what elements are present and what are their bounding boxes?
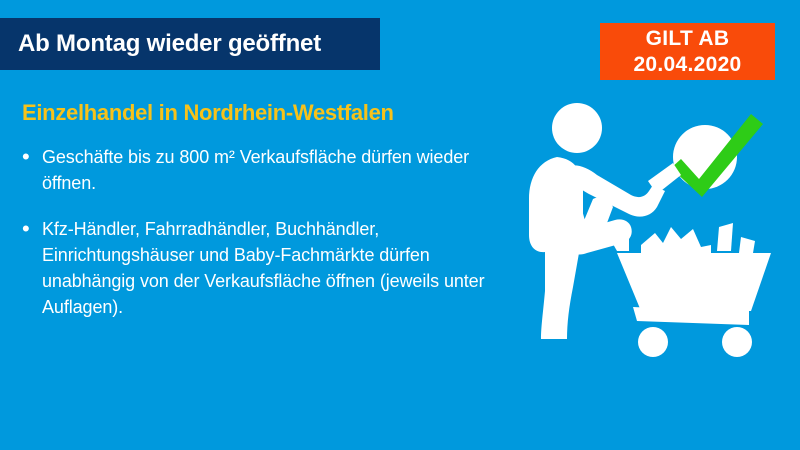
bullet-marker-icon: • <box>18 144 42 170</box>
content-column: Einzelhandel in Nordrhein-Westfalen • Ge… <box>18 100 518 340</box>
page-title: Ab Montag wieder geöffnet <box>0 30 321 58</box>
list-item: • Kfz-Händler, Fahrradhändler, Buchhändl… <box>18 216 518 320</box>
bullet-marker-icon: • <box>18 216 42 242</box>
badge-date: 20.04.2020 <box>633 52 741 78</box>
list-item-text: Geschäfte bis zu 800 m² Verkaufsfläche d… <box>42 144 518 196</box>
list-item-text: Kfz-Händler, Fahrradhändler, Buchhändler… <box>42 216 518 320</box>
status-badge: GILT AB 20.04.2020 <box>600 23 775 80</box>
cart-basket-icon <box>617 253 771 311</box>
subheadline: Einzelhandel in Nordrhein-Westfalen <box>22 100 518 126</box>
cart-goods-icon <box>739 237 755 253</box>
cart-wheel-icon <box>638 327 668 357</box>
person-head-icon <box>552 103 602 153</box>
shopper-with-cart-illustration <box>505 95 800 360</box>
title-banner: Ab Montag wieder geöffnet <box>0 18 380 70</box>
list-item: • Geschäfte bis zu 800 m² Verkaufsfläche… <box>18 144 518 196</box>
illustration-svg <box>505 95 800 360</box>
cart-goods-icon <box>717 223 733 251</box>
cart-wheel-icon <box>722 327 752 357</box>
badge-label: GILT AB <box>646 26 730 52</box>
infographic-poster: Ab Montag wieder geöffnet GILT AB 20.04.… <box>0 0 800 450</box>
cart-goods-icon <box>641 227 711 255</box>
